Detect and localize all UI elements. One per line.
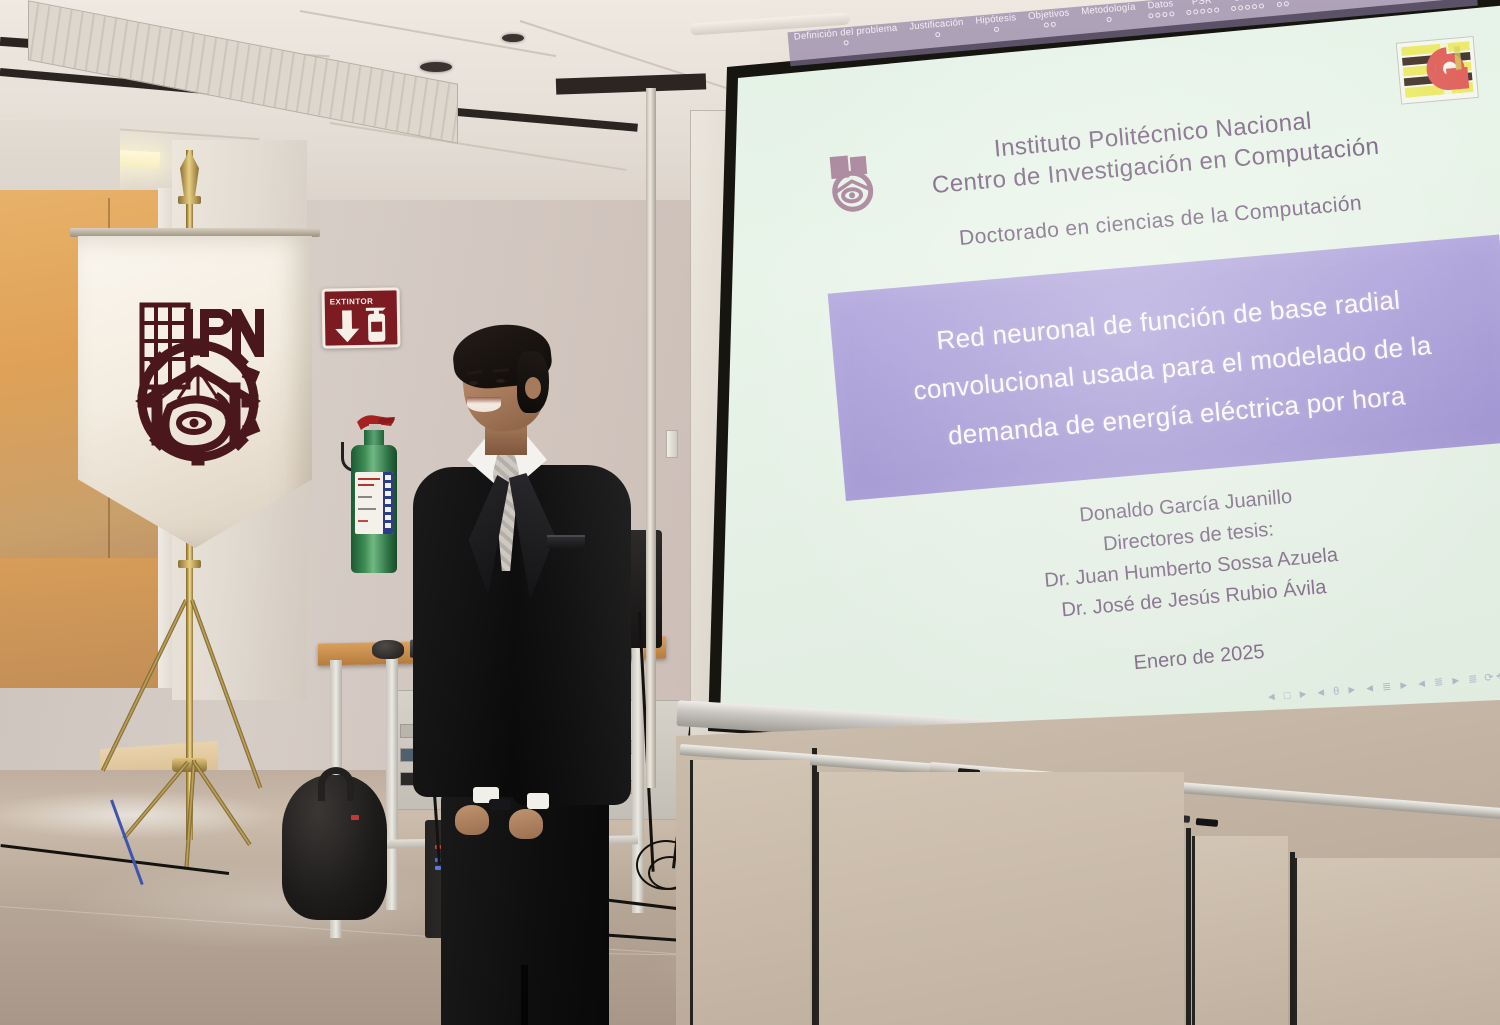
nav-dot-icon[interactable]	[1214, 7, 1219, 12]
nav-dot-icon[interactable]	[844, 40, 849, 45]
nav-section-6[interactable]: PSR	[1185, 0, 1219, 15]
nav-section-dots	[1186, 7, 1219, 15]
nav-section-dots	[844, 40, 849, 45]
nav-section-7[interactable]: CRBF	[1230, 0, 1264, 11]
nav-dot-icon[interactable]	[1169, 11, 1174, 16]
nav-dot-icon[interactable]	[1238, 5, 1243, 10]
nav-dot-icon[interactable]	[1043, 22, 1048, 27]
nav-section-dots	[1231, 3, 1264, 11]
computer-mouse[interactable]	[372, 640, 404, 659]
nav-dot-icon[interactable]	[935, 32, 940, 37]
presenter-eye	[496, 379, 505, 383]
nav-section-dots	[1043, 22, 1055, 28]
nav-section-label: Hipótesis	[975, 12, 1017, 27]
nav-dot-icon[interactable]	[1231, 6, 1236, 11]
light-switch[interactable]	[666, 430, 678, 458]
nav-section-dots	[935, 32, 940, 37]
nav-section-8[interactable]: CR	[1275, 0, 1291, 7]
nav-section-label: Metodología	[1081, 2, 1136, 18]
slide-title-block: Red neuronal de función de base radial c…	[828, 234, 1500, 501]
whiteboard-divider	[1186, 828, 1191, 1025]
down-arrow-icon	[335, 310, 360, 342]
nav-section-dots	[1148, 11, 1174, 18]
nav-dot-icon[interactable]	[1200, 8, 1205, 13]
nav-dot-icon[interactable]	[1107, 17, 1112, 22]
nav-dot-icon[interactable]	[1148, 13, 1153, 18]
flag-pole-collar	[178, 196, 201, 204]
nav-dot-icon[interactable]	[1050, 22, 1055, 27]
presenter-hand	[509, 809, 543, 839]
beamer-navigation-symbols[interactable]: ◄ □ ► ◄ θ ► ◄ ≣ ► ◄ ≣ ► ≣ ⟳⟲⟳	[1265, 669, 1500, 704]
nav-dot-icon[interactable]	[1245, 5, 1250, 10]
fire-extinguisher	[345, 400, 405, 575]
nav-section-label: Objetivos	[1028, 7, 1070, 22]
ceiling-speaker-icon	[502, 34, 524, 42]
nav-dot-icon[interactable]	[1259, 3, 1264, 8]
label-line	[358, 520, 368, 522]
nav-section-1[interactable]: Justificación	[909, 17, 965, 40]
nav-section-label: Justificación	[909, 17, 964, 33]
ipn-logo-icon	[120, 283, 270, 473]
cabinet-lower-panel	[0, 558, 160, 688]
backpack	[282, 775, 387, 920]
nav-section-3[interactable]: Objetivos	[1028, 7, 1071, 29]
ceiling-speaker-icon	[420, 62, 452, 72]
presenter	[405, 325, 650, 985]
whiteboard-panel	[1192, 836, 1288, 1025]
nav-section-dots	[994, 27, 999, 32]
nav-dot-icon[interactable]	[1284, 1, 1289, 6]
backpack-logo	[351, 815, 359, 820]
presentation-slide: Definición del problemaJustificaciónHipó…	[790, 0, 1500, 761]
banner-rod	[70, 228, 320, 237]
classroom-scene: EXTINTOR	[0, 0, 1500, 1025]
nav-section-2[interactable]: Hipótesis	[975, 12, 1017, 34]
flag-pole-collar	[178, 560, 201, 568]
nav-dot-icon[interactable]	[994, 27, 999, 32]
nav-dot-icon[interactable]	[1155, 12, 1160, 17]
extinguisher-icon	[363, 303, 391, 343]
whiteboard-panel	[1294, 858, 1500, 1025]
backpack-strap	[318, 767, 354, 801]
fire-extinguisher-sign: EXTINTOR	[321, 287, 400, 348]
nav-section-dots	[1107, 17, 1112, 22]
presenter-ear	[525, 377, 541, 399]
nav-section-4[interactable]: Metodología	[1081, 2, 1137, 25]
shirt-cuff	[527, 793, 549, 809]
wristwatch	[489, 799, 511, 810]
extinguisher-label	[355, 472, 393, 534]
nav-dot-icon[interactable]	[1186, 10, 1191, 15]
presenter-smile	[467, 397, 501, 412]
desk-leg	[386, 655, 398, 910]
presenter-hand	[455, 805, 489, 835]
nav-dot-icon[interactable]	[1277, 2, 1282, 7]
label-line	[358, 496, 372, 498]
presenter-eye	[469, 381, 478, 385]
nav-dot-icon[interactable]	[1193, 9, 1198, 14]
extinguisher-handle	[353, 412, 399, 432]
label-line	[358, 508, 376, 510]
nav-section-label: PSR	[1191, 0, 1212, 8]
nav-section-label: Datos	[1147, 0, 1174, 12]
whiteboard-panel	[690, 760, 810, 1025]
nav-dot-icon[interactable]	[1207, 8, 1212, 13]
nav-dot-icon[interactable]	[1252, 4, 1257, 9]
slide-navigation-bar: Definición del problemaJustificaciónHipó…	[787, 0, 1477, 66]
trouser-seam	[521, 965, 528, 1025]
label-line	[358, 484, 374, 486]
slide-institution-header: Instituto Politécnico Nacional Centro de…	[803, 90, 1500, 267]
ipn-banner	[70, 228, 320, 558]
label-line	[358, 478, 380, 480]
nav-dot-icon[interactable]	[1162, 12, 1167, 17]
whiteboard-panel	[816, 772, 1184, 1025]
extinguisher-label-blue-strip	[383, 472, 393, 534]
nav-section-0[interactable]: Definición del problema	[793, 23, 898, 50]
pocket-square	[547, 535, 585, 548]
nav-section-dots	[1277, 1, 1289, 7]
wall-column	[646, 88, 656, 788]
nav-section-5[interactable]: Datos	[1147, 0, 1174, 18]
